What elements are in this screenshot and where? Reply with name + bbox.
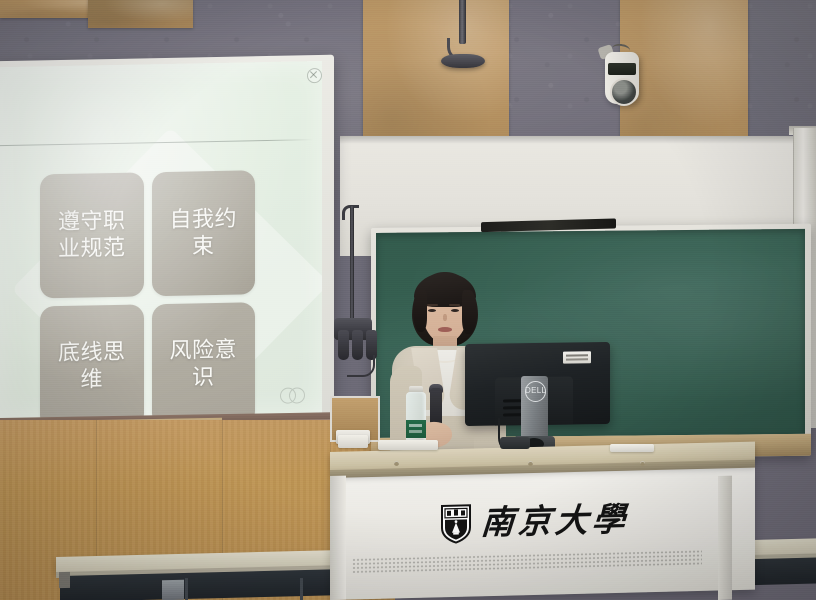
podium-item: [610, 444, 654, 452]
camera-lens-dome: [610, 78, 638, 106]
presenter-brow-right: [449, 304, 460, 306]
podium-keyboard-edge: [378, 440, 438, 450]
dell-logo-icon: DELL: [525, 381, 546, 402]
camera-ir-band: [608, 63, 636, 75]
desk-divider: [185, 578, 188, 600]
projection-screen-surface[interactable]: 遵守职业规范 自我约束 底线思维 风险意识: [0, 61, 322, 420]
projection-screen[interactable]: 遵守职业规范 自我约束 底线思维 风险意识: [0, 55, 334, 437]
two-circle-logo-icon: [280, 387, 306, 401]
wall-security-camera: [605, 52, 639, 104]
slide-tile-3: 底线思维: [40, 304, 144, 420]
nanjing-university-crest: [440, 503, 472, 544]
lecture-hall-scene: 遵守职业规范 自我约束 底线思维 风险意识: [0, 0, 816, 600]
slide-tile-2-label: 自我约束: [166, 205, 240, 260]
slide-tile-grid: 遵守职业规范 自我约束 底线思维 风险意识: [40, 170, 255, 420]
wall-shadow: [340, 136, 816, 144]
student-desk-leg: [59, 572, 70, 588]
slide-tile-1-label: 遵守职业规范: [55, 207, 129, 262]
water-bottle-label: [406, 420, 426, 438]
dell-logo-text: DELL: [525, 386, 544, 395]
presenter-nose: [443, 314, 447, 321]
presenter-hair-left: [413, 290, 427, 332]
university-name-text: 南京大學: [480, 501, 631, 541]
podium-side-left: [330, 476, 346, 600]
slide-tile-1: 遵守职业规范: [40, 172, 144, 297]
slide-tile-3-label: 底线思维: [55, 339, 129, 394]
slide-tile-2: 自我约束: [152, 170, 256, 295]
presenter-mouth: [438, 327, 452, 332]
slide-tile-4: 风险意识: [152, 302, 256, 420]
podium-side-right: [718, 476, 732, 600]
presenter-hair-right: [462, 290, 477, 334]
desk-front-panel: [162, 580, 184, 600]
presenter-eye-left: [428, 309, 436, 312]
podium-paper-stack: [338, 435, 368, 448]
ceiling-speaker-mount: [441, 54, 485, 68]
podium-device-box: [500, 437, 530, 449]
slide-tile-4-label: 风险意识: [166, 337, 240, 392]
mic-rack-rod: [350, 206, 354, 321]
university-branding: 南京大學: [440, 493, 660, 550]
desk-divider: [300, 578, 303, 600]
presenter-brow-left: [427, 304, 438, 306]
mic-rack-cable: [347, 355, 375, 377]
wall-panel-tan-center: [363, 0, 509, 151]
presenter-eye-right: [451, 309, 459, 312]
monitor-asset-sticker: [563, 351, 591, 363]
wall-panel-tan-left-2: [88, 0, 193, 28]
wall-panel-tan-right: [620, 0, 748, 156]
